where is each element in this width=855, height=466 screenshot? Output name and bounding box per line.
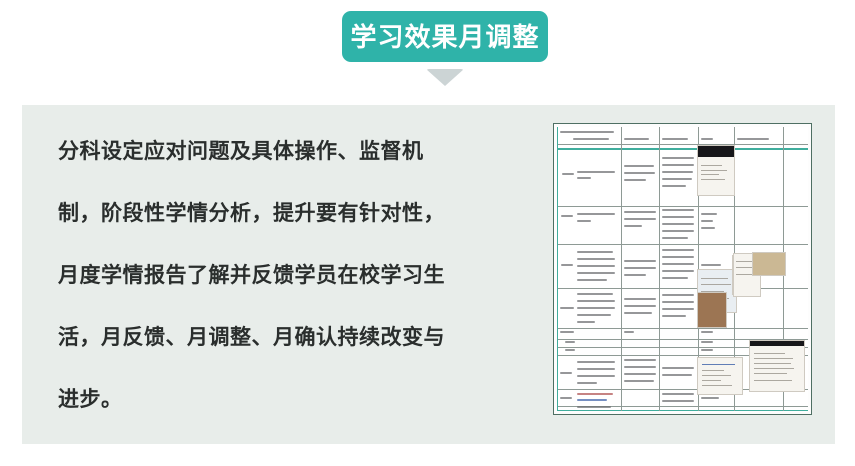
cell-text (701, 341, 713, 343)
photo-rule (754, 353, 784, 354)
attachment-photo (697, 145, 735, 196)
photo-rule (701, 174, 719, 175)
cell-text (565, 341, 575, 343)
grid-line-h (557, 288, 808, 289)
grid-line-v (557, 127, 558, 411)
photo-rule (702, 370, 725, 371)
cell-text (624, 179, 646, 181)
cell-text (624, 218, 656, 220)
paragraph-line: 分科设定应对问题及具体操作、监督机 (58, 121, 558, 183)
cell-text (561, 264, 573, 266)
cell-text (701, 213, 717, 215)
cell-text (560, 397, 572, 399)
cell-text (737, 138, 769, 140)
cell-text (624, 373, 656, 375)
spreadsheet-screenshot (553, 123, 812, 415)
chevron-down-caret-icon (426, 69, 464, 86)
cell-text (577, 272, 615, 274)
cell-text (577, 251, 613, 253)
attachment-photo (749, 340, 805, 392)
cell-text (577, 375, 615, 377)
cell-text (662, 138, 688, 140)
cell-text (662, 178, 692, 180)
cell-text (560, 331, 574, 333)
cell-text (560, 307, 574, 309)
cell-text (662, 374, 692, 376)
cell-text (624, 267, 656, 269)
photo-rule (754, 368, 794, 369)
body-paragraph: 分科设定应对问题及具体操作、监督机 制，阶段性学情分析，提升要有针对性， 月度学… (58, 121, 558, 431)
grid-line-h (557, 244, 808, 245)
photo-rule (736, 267, 753, 268)
cell-text (662, 237, 688, 239)
cell-text (701, 138, 713, 140)
cell-text (662, 157, 694, 159)
cell-text (624, 366, 656, 368)
cell-text (662, 301, 694, 303)
photo-rule (701, 165, 723, 166)
cell-text (662, 164, 694, 166)
content-panel: 分科设定应对问题及具体操作、监督机 制，阶段性学情分析，提升要有针对性， 月度学… (22, 105, 835, 444)
paragraph-line: 月度学情报告了解并反馈学员在校学习生 (58, 245, 558, 307)
attachment-photo (752, 252, 786, 276)
cell-text (577, 393, 613, 395)
cell-text (577, 258, 615, 260)
cell-text (662, 263, 694, 265)
attachment-photo (697, 292, 727, 328)
cell-text (662, 223, 694, 225)
photo-dark-band (750, 341, 804, 346)
cell-text (577, 177, 591, 179)
grid-line-v (659, 127, 660, 411)
cell-text (577, 171, 615, 173)
cell-text (624, 211, 656, 213)
cell-text (662, 315, 686, 317)
cell-text (624, 298, 656, 300)
photo-rule (754, 373, 786, 374)
cell-text (577, 314, 611, 316)
cell-text (577, 399, 607, 401)
cell-text (624, 165, 654, 167)
photo-rule (702, 375, 732, 376)
cell-text (577, 307, 615, 309)
photo-dark-band (698, 146, 734, 157)
cell-text (577, 213, 615, 215)
cell-text (624, 225, 642, 227)
photo-rule (701, 284, 731, 285)
paragraph-line: 进步。 (58, 369, 558, 431)
cell-text (662, 249, 694, 251)
cell-text (662, 270, 694, 272)
cell-text (565, 349, 575, 351)
cell-text (701, 397, 719, 399)
cell-text (577, 382, 597, 384)
cell-text (624, 305, 656, 307)
cell-text (624, 274, 646, 276)
cell-text (701, 264, 721, 266)
cell-text (662, 230, 694, 232)
grid-line-h (557, 410, 808, 411)
cell-text (662, 216, 694, 218)
grid-line-h (557, 144, 808, 145)
cell-text (573, 138, 609, 140)
cell-text (577, 368, 615, 370)
cell-text (577, 220, 591, 222)
cell-text (701, 331, 713, 333)
paragraph-line: 制，阶段性学情分析，提升要有针对性， (58, 183, 558, 245)
cell-text (662, 171, 693, 173)
spreadsheet-grid (557, 127, 808, 411)
paragraph-line: 活，月反馈、月调整、月确认持续改变与 (58, 307, 558, 369)
cell-text (662, 294, 694, 296)
cell-text (662, 393, 694, 395)
cell-text (577, 361, 615, 363)
cell-text (624, 138, 649, 140)
attachment-photo (697, 357, 743, 395)
cell-text (561, 215, 573, 217)
cell-text (577, 406, 611, 408)
cell-text (662, 209, 694, 211)
cell-text (662, 185, 686, 187)
cell-text (662, 256, 694, 258)
cell-text (577, 293, 613, 295)
cell-text (701, 349, 713, 351)
cell-text (560, 131, 614, 133)
cell-text (662, 308, 694, 310)
photo-rule (702, 380, 721, 381)
cell-text (577, 279, 607, 281)
cell-text (624, 172, 655, 174)
grid-line-h (557, 206, 808, 207)
cell-text (624, 260, 656, 262)
cell-text (624, 312, 652, 314)
photo-rule (754, 358, 793, 359)
grid-line-h-header (557, 148, 808, 150)
section-title-label: 学习效果月调整 (350, 24, 539, 50)
photo-rule (754, 380, 792, 381)
photo-rule (701, 278, 728, 279)
photo-rule (701, 170, 727, 171)
cell-text (577, 265, 615, 267)
photo-rule (701, 179, 725, 180)
cell-text (624, 380, 654, 382)
cell-text (662, 277, 688, 279)
cell-text (560, 372, 572, 374)
section-title-badge: 学习效果月调整 (342, 11, 548, 62)
cell-text (562, 173, 574, 175)
cell-text (577, 321, 595, 323)
grid-line-v (621, 127, 622, 411)
photo-rule (702, 385, 733, 386)
cell-text (662, 400, 694, 402)
cell-text (701, 227, 715, 229)
cell-text (577, 300, 615, 302)
cell-text (662, 367, 694, 369)
cell-text (701, 220, 713, 222)
grid-line-h (557, 328, 808, 329)
cell-text (624, 331, 634, 333)
cell-text (624, 359, 656, 361)
photo-rule (754, 363, 791, 364)
photo-rule (702, 364, 735, 365)
